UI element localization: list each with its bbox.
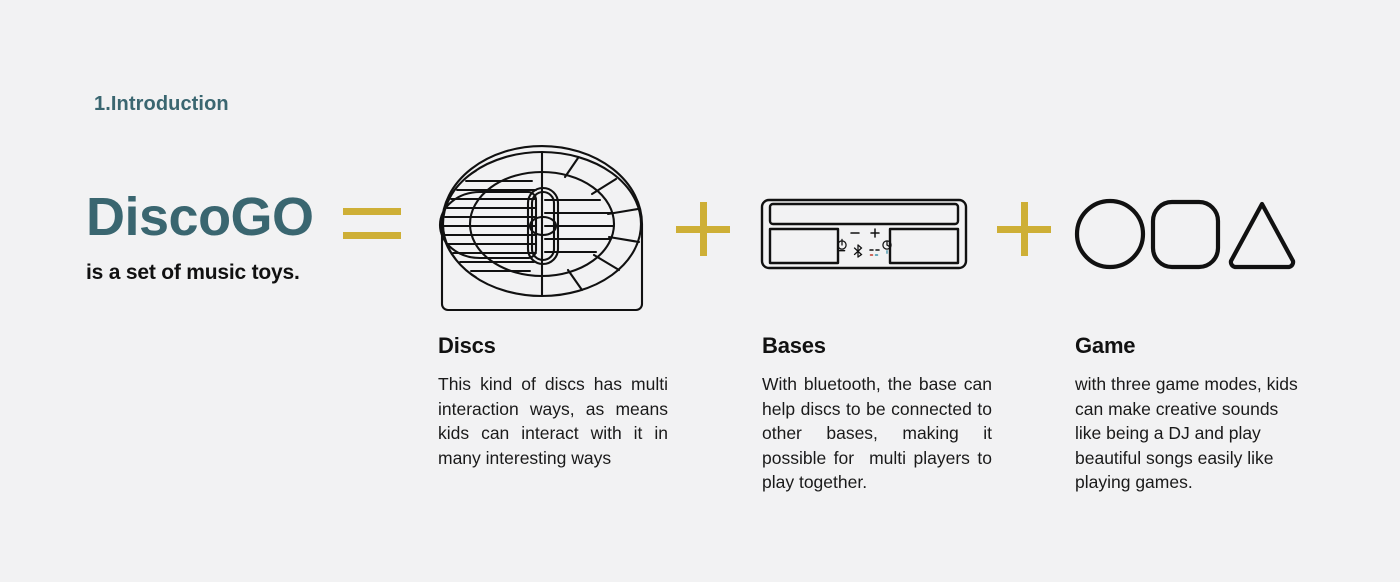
base-right-panel (890, 229, 958, 263)
column-title-bases: Bases (762, 333, 992, 359)
plus-vertical-bar (700, 202, 707, 256)
plus-icon (871, 229, 879, 237)
column-discs: Discs This kind of discs has multi inter… (438, 333, 668, 470)
slide-canvas: 1.Introduction DiscoGO is a set of music… (0, 0, 1400, 582)
battery-indicator-icon (870, 250, 879, 255)
base-shell-outline (762, 200, 966, 268)
base-control-icons (838, 229, 891, 257)
game-shapes-illustration (1074, 198, 1298, 270)
equals-bar-bottom (343, 232, 401, 239)
column-title-discs: Discs (438, 333, 668, 359)
column-bases: Bases With bluetooth, the base can help … (762, 333, 992, 495)
disc-grill-panel (440, 192, 536, 258)
disc-dome-illustration (432, 138, 652, 310)
page-subtitle: is a set of music toys. (86, 261, 406, 285)
column-game: Game with three game modes, kids can mak… (1075, 333, 1305, 495)
equals-bar-top (343, 208, 401, 215)
bluetooth-icon (855, 245, 862, 257)
column-body-game: with three game modes, kids can make cre… (1075, 372, 1305, 495)
base-unit-illustration (760, 198, 968, 270)
base-top-strip (770, 204, 958, 224)
plus-vertical-bar (1021, 202, 1028, 256)
column-body-discs: This kind of discs has multi interaction… (438, 372, 668, 470)
circle-shape (1077, 201, 1143, 267)
column-title-game: Game (1075, 333, 1305, 359)
equals-operator (343, 208, 401, 239)
plus-operator-1 (676, 202, 730, 256)
triangle-shape (1231, 204, 1293, 267)
plus-operator-2 (997, 202, 1051, 256)
column-body-bases: With bluetooth, the base can help discs … (762, 372, 992, 495)
base-left-panel (770, 229, 838, 263)
rounded-square-shape (1153, 202, 1218, 267)
section-label: 1.Introduction (94, 93, 229, 116)
